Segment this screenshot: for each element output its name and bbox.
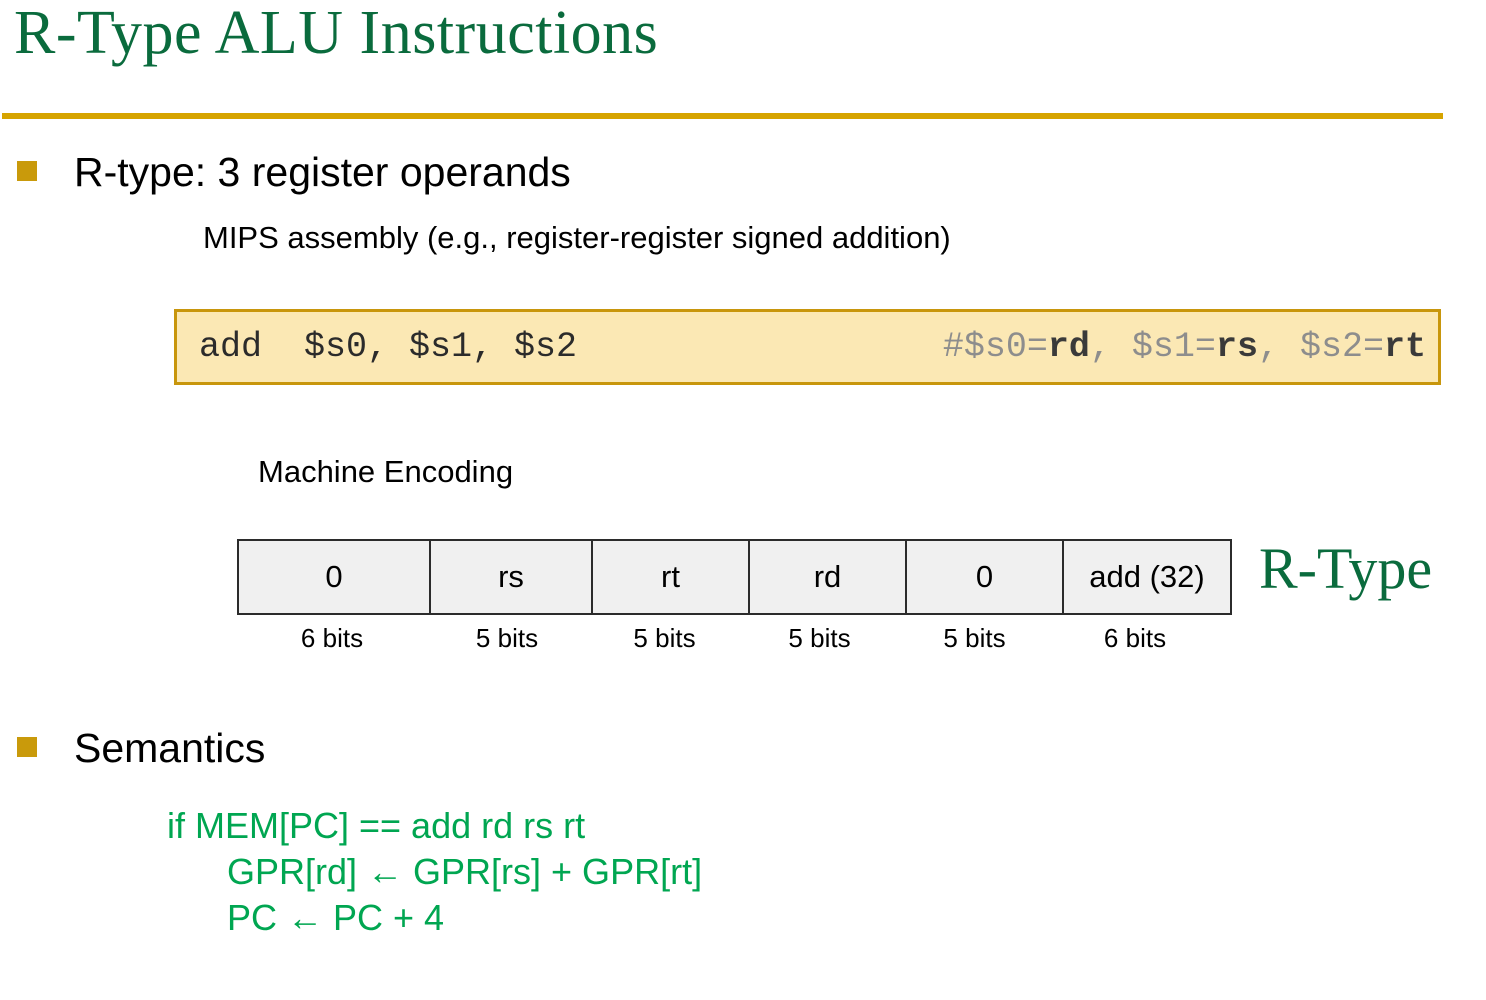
assembly-comment: #$s0=rd, $s1=rs, $s2=rt xyxy=(943,327,1426,367)
comment-field-rt: rt xyxy=(1384,327,1426,367)
bullet-label: Semantics xyxy=(74,728,265,769)
encoding-field-cell: rs xyxy=(430,540,592,614)
bullet-item-rtype: R-type: 3 register operands xyxy=(17,152,571,193)
assembly-instruction: add $s0, $s1, $s2 xyxy=(199,327,577,367)
encoding-field-cell: rt xyxy=(592,540,749,614)
encoding-caption: Machine Encoding xyxy=(258,456,513,487)
assembly-caption: MIPS assembly (e.g., register-register s… xyxy=(203,222,951,253)
encoding-field-value: rs xyxy=(498,559,524,594)
comment-prefix: #$s0= xyxy=(943,327,1048,367)
encoding-field-bitwidth: 5 bits xyxy=(897,625,1052,651)
encoding-field-value: 0 xyxy=(325,559,342,594)
bullet-item-semantics: Semantics xyxy=(17,728,265,769)
assembly-code-box: add $s0, $s1, $s2 #$s0=rd, $s1=rs, $s2=r… xyxy=(174,309,1441,385)
encoding-field-value: rt xyxy=(661,559,680,594)
encoding-field-cell: 0 xyxy=(906,540,1063,614)
semantics-line: PC ← PC + 4 xyxy=(167,895,702,941)
bullet-label: R-type: 3 register operands xyxy=(74,152,571,193)
encoding-field-cell: rd xyxy=(749,540,906,614)
comment-sep-2: , $s2= xyxy=(1258,327,1384,367)
encoding-bitwidth-row: 6 bits5 bits5 bits5 bits5 bits6 bits xyxy=(237,625,1218,651)
encoding-field-value: rd xyxy=(814,559,842,594)
encoding-field-value: add (32) xyxy=(1089,559,1204,594)
encoding-field-cell: 0 xyxy=(238,540,430,614)
encoding-field-value: 0 xyxy=(976,559,993,594)
instruction-encoding-table: 0rsrtrd0add (32) xyxy=(237,539,1232,615)
encoding-field-bitwidth: 5 bits xyxy=(587,625,742,651)
encoding-field-bitwidth: 5 bits xyxy=(427,625,587,651)
page-title: R-Type ALU Instructions xyxy=(14,0,658,69)
semantics-pseudocode: if MEM[PC] == add rd rs rtGPR[rd] ← GPR[… xyxy=(167,803,702,941)
encoding-field-cell: add (32) xyxy=(1063,540,1231,614)
encoding-format-label: R-Type xyxy=(1259,540,1432,598)
comment-sep-1: , $s1= xyxy=(1090,327,1216,367)
semantics-line: if MEM[PC] == add rd rs rt xyxy=(167,803,702,849)
encoding-field-bitwidth: 6 bits xyxy=(1052,625,1218,651)
comment-field-rs: rs xyxy=(1216,327,1258,367)
encoding-field-bitwidth: 6 bits xyxy=(237,625,427,651)
encoding-field-row: 0rsrtrd0add (32) xyxy=(238,540,1231,614)
bullet-square-icon xyxy=(17,161,37,181)
encoding-field-bitwidth: 5 bits xyxy=(742,625,897,651)
title-divider xyxy=(2,113,1443,119)
semantics-line: GPR[rd] ← GPR[rs] + GPR[rt] xyxy=(167,849,702,895)
bullet-square-icon xyxy=(17,737,37,757)
comment-field-rd: rd xyxy=(1048,327,1090,367)
